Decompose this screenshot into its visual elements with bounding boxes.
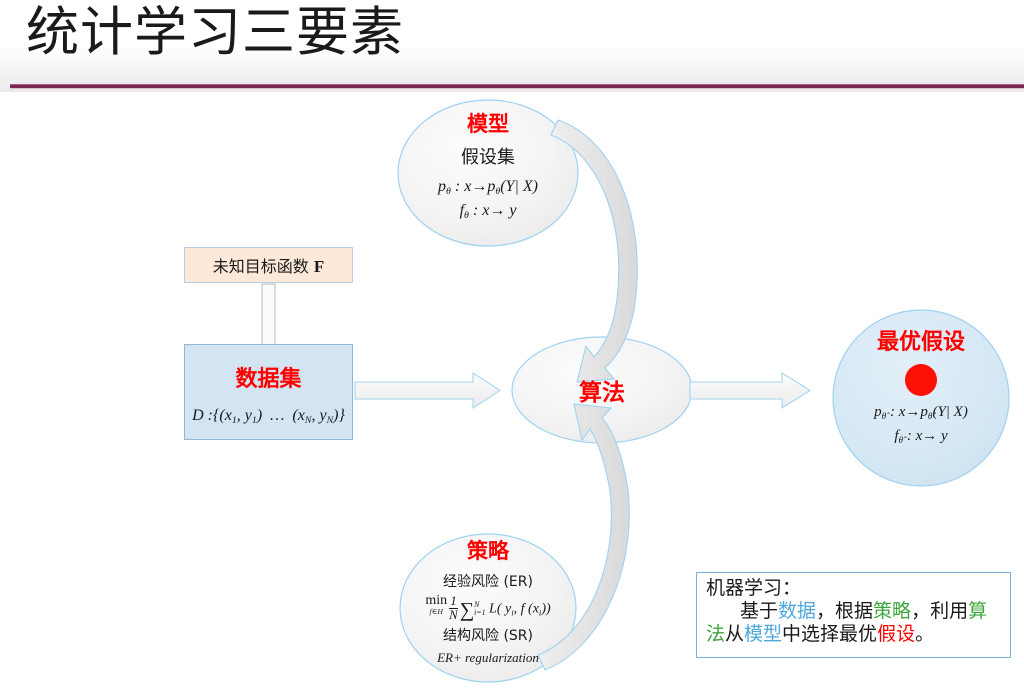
machine-learning-definition-box: 机器学习： 基于数据，根据策略，利用算法从模型中选择最优假设。 (696, 572, 1011, 658)
slide-header: 统计学习三要素 (0, 0, 1024, 92)
target-function-symbol: F (309, 257, 324, 276)
keyword-model: 模型 (744, 623, 782, 645)
keyword-hypothesis: 假设 (877, 623, 915, 645)
unknown-target-function-label: 未知目标函数F (213, 253, 324, 277)
arrow-algorithm-to-best (690, 373, 810, 408)
diagram-canvas: 模型 假设集 pθ : x→pθ(Y| X) fθ : x→ y 未知目标函数F… (0, 92, 1024, 689)
dataset-box: 数据集 D :{(x1, y1) … (xN, yN)} (184, 344, 353, 440)
keyword-policy: 策略 (873, 600, 911, 622)
unknown-target-function-box: 未知目标函数F (184, 247, 353, 283)
dataset-title: 数据集 (185, 361, 352, 393)
title-divider (10, 84, 1024, 89)
legend-body: 基于数据，根据策略，利用算法从模型中选择最优假设。 (706, 600, 1002, 646)
legend-title: 机器学习： (706, 578, 1002, 600)
best-hypothesis-circle-shape (833, 310, 1009, 486)
model-ellipse-shape (398, 100, 578, 246)
page-title: 统计学习三要素 (26, 0, 404, 68)
keyword-data: 数据 (778, 600, 816, 622)
dataset-formula: D :{(x1, y1) … (xN, yN)} (185, 407, 352, 426)
arrow-dataset-to-algorithm (355, 373, 500, 408)
